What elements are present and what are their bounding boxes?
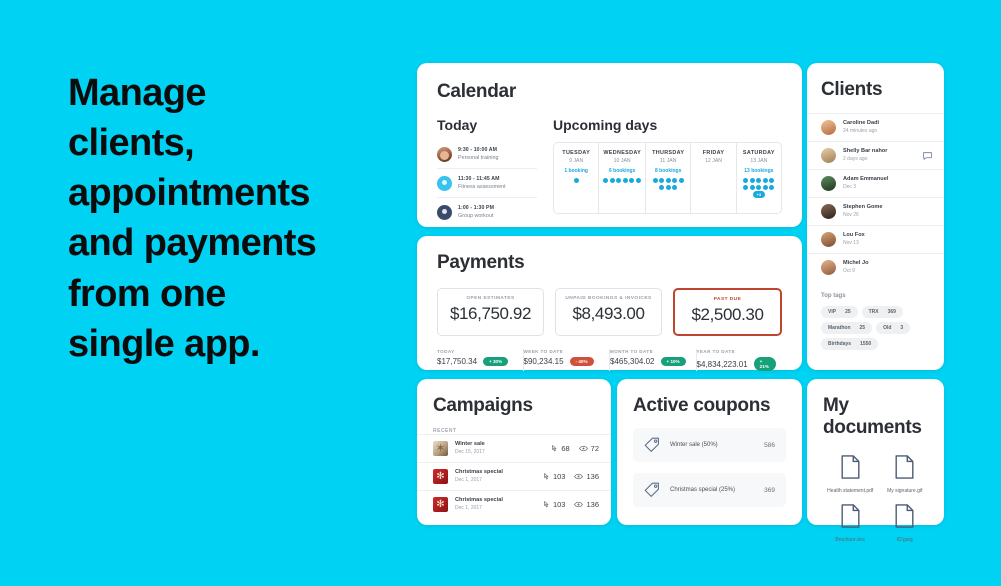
headline-line: and payments bbox=[68, 218, 408, 268]
booking-dot bbox=[743, 178, 748, 183]
campaign-views: 136 bbox=[586, 500, 599, 509]
upcoming-days-column: Upcoming days TUESDAY 9 JAN 1 booking WE… bbox=[553, 117, 782, 226]
stat-delta-badge: + 30% bbox=[483, 357, 508, 366]
calendar-title: Calendar bbox=[437, 81, 782, 103]
stat-value: $4,834,223.01 bbox=[697, 360, 748, 369]
stat-label: YEAR TO DATE bbox=[697, 349, 777, 354]
day-bookings-count: 1 booking bbox=[558, 168, 594, 174]
avatar bbox=[821, 204, 836, 219]
eye-icon bbox=[574, 501, 583, 508]
appointment-name: Personal training bbox=[458, 155, 498, 162]
booking-dots bbox=[650, 178, 686, 190]
tag-name: Birthdays bbox=[828, 341, 851, 347]
client-last-activity: Nov 13 bbox=[843, 240, 932, 246]
day-column[interactable]: TUESDAY 9 JAN 1 booking bbox=[554, 143, 599, 213]
appointment-name: Group workout bbox=[458, 213, 494, 220]
booking-dot bbox=[756, 178, 761, 183]
campaign-row[interactable]: Winter sale Dec 15, 2017 68 72 bbox=[417, 434, 611, 462]
campaigns-title: Campaigns bbox=[417, 395, 611, 417]
booking-dot bbox=[666, 185, 671, 190]
client-row[interactable]: Adam Emmanuel Dec 3 bbox=[807, 169, 944, 197]
document-icon bbox=[841, 455, 860, 479]
coupon-name: Winter sale (50%) bbox=[670, 442, 754, 448]
day-name: SATURDAY bbox=[741, 150, 777, 156]
tag-chip[interactable]: Birthdays 1550 bbox=[821, 338, 878, 350]
today-appointment[interactable]: 9:30 - 10:00 AM Personal training bbox=[437, 140, 537, 169]
day-column[interactable]: THURSDAY 11 JAN 8 bookings bbox=[646, 143, 691, 213]
day-name: THURSDAY bbox=[650, 150, 686, 156]
payment-card-past-due[interactable]: PAST DUE $2,500.30 bbox=[673, 288, 782, 336]
headline-line: Manage bbox=[68, 68, 408, 118]
stat-value: $465,304.02 bbox=[610, 357, 655, 366]
document-item[interactable]: Health statement.pdf bbox=[823, 455, 878, 495]
payments-title: Payments bbox=[437, 252, 782, 274]
coupon-row[interactable]: Winter sale (50%) 586 bbox=[633, 428, 786, 462]
tag-count: 3 bbox=[900, 325, 903, 331]
campaign-date: Dec 1, 2017 bbox=[455, 505, 536, 511]
booking-dots bbox=[558, 178, 594, 183]
payment-card-open-estimates[interactable]: OPEN ESTIMATES $16,750.92 bbox=[437, 288, 544, 336]
day-name: TUESDAY bbox=[558, 150, 594, 156]
client-name: Shelly Bar nahor bbox=[843, 148, 916, 155]
payment-stat-week: WEEK TO DATE $90,234.15 - 40% bbox=[524, 349, 611, 371]
document-name: Brochure.doc bbox=[823, 537, 878, 544]
booking-dot bbox=[653, 178, 658, 183]
client-row[interactable]: Caroline Dadi 24 minutes ago bbox=[807, 113, 944, 141]
client-name: Lou Fox bbox=[843, 232, 932, 239]
day-date: 12 JAN bbox=[695, 158, 731, 164]
calendar-card: Calendar Today 9:30 - 10:00 AM Personal … bbox=[417, 63, 802, 227]
documents-title: My documents bbox=[823, 395, 932, 439]
avatar bbox=[437, 176, 452, 191]
tag-icon bbox=[644, 482, 660, 498]
top-tags-label: Top tags bbox=[807, 281, 944, 299]
booking-dot bbox=[743, 185, 748, 190]
avatar bbox=[437, 147, 452, 162]
campaign-thumbnail bbox=[433, 497, 448, 512]
campaign-clicks: 68 bbox=[561, 444, 569, 453]
booking-dot bbox=[666, 178, 671, 183]
stat-label: WEEK TO DATE bbox=[524, 349, 604, 354]
booking-dot bbox=[672, 185, 677, 190]
tag-chip[interactable]: VIP 25 bbox=[821, 306, 858, 318]
campaign-date: Dec 1, 2017 bbox=[455, 477, 536, 483]
client-last-activity: 2 days ago bbox=[843, 156, 916, 162]
appointment-name: Fitness assessment bbox=[458, 184, 506, 191]
document-icon bbox=[895, 455, 914, 479]
day-date: 9 JAN bbox=[558, 158, 594, 164]
document-item[interactable]: My signature.gif bbox=[878, 455, 933, 495]
headline-line: from one bbox=[68, 269, 408, 319]
booking-dot bbox=[769, 185, 774, 190]
coupon-count: 586 bbox=[764, 442, 775, 449]
payment-card-value: $2,500.30 bbox=[679, 305, 776, 325]
day-date: 13 JAN bbox=[741, 158, 777, 164]
top-tags-list: VIP 25 TRX 369 Marathon 25 Old 3 Birthda… bbox=[807, 299, 944, 350]
eye-icon bbox=[579, 445, 588, 452]
tag-chip[interactable]: TRX 369 bbox=[862, 306, 903, 318]
client-name: Stephen Gome bbox=[843, 204, 932, 211]
day-bookings-count: 8 bookings bbox=[650, 168, 686, 174]
appointment-time: 9:30 - 10:00 AM bbox=[458, 147, 498, 154]
tag-icon bbox=[644, 437, 660, 453]
client-row[interactable]: Shelly Bar nahor 2 days ago bbox=[807, 141, 944, 169]
document-icon bbox=[895, 504, 914, 528]
appointment-time: 11:30 - 11:45 AM bbox=[458, 176, 506, 183]
payment-card-label: PAST DUE bbox=[679, 297, 776, 302]
tag-name: Old bbox=[883, 325, 891, 331]
campaign-date: Dec 15, 2017 bbox=[455, 449, 544, 455]
tag-name: VIP bbox=[828, 309, 836, 315]
campaign-row[interactable]: Christmas special Dec 1, 2017 103 136 bbox=[417, 490, 611, 518]
coupons-title: Active coupons bbox=[633, 395, 786, 417]
client-row[interactable]: Lou Fox Nov 13 bbox=[807, 225, 944, 253]
client-last-activity: 24 minutes ago bbox=[843, 128, 932, 134]
stat-label: TODAY bbox=[437, 349, 517, 354]
headline-line: single app. bbox=[68, 319, 408, 369]
booking-dot bbox=[574, 178, 579, 183]
campaign-clicks: 103 bbox=[553, 472, 566, 481]
today-list: 9:30 - 10:00 AM Personal training 11:30 … bbox=[437, 140, 537, 226]
clients-list: Caroline Dadi 24 minutes ago Shelly Bar … bbox=[807, 113, 944, 281]
payment-stat-month: MONTH TO DATE $465,304.02 + 10% bbox=[610, 349, 697, 371]
payments-card: Payments OPEN ESTIMATES $16,750.92 UNPAI… bbox=[417, 236, 802, 370]
client-name: Caroline Dadi bbox=[843, 120, 932, 127]
document-item[interactable]: ID.jpeg bbox=[878, 504, 933, 544]
coupon-name: Christmas special (25%) bbox=[670, 487, 754, 493]
stat-value: $17,750.34 bbox=[437, 357, 477, 366]
booking-dot bbox=[623, 178, 628, 183]
day-bookings-count: 13 bookings bbox=[741, 168, 777, 174]
day-column[interactable]: WEDNESDAY 10 JAN 6 bookings bbox=[599, 143, 646, 213]
day-name: WEDNESDAY bbox=[603, 150, 641, 156]
avatar bbox=[821, 148, 836, 163]
payment-stat-year: YEAR TO DATE $4,834,223.01 + 21% bbox=[697, 349, 783, 371]
booking-dot bbox=[659, 178, 664, 183]
booking-dot bbox=[610, 178, 615, 183]
document-name: ID.jpeg bbox=[878, 537, 933, 544]
payment-card-label: OPEN ESTIMATES bbox=[442, 296, 539, 301]
document-icon bbox=[841, 504, 860, 528]
campaign-views: 136 bbox=[586, 472, 599, 481]
today-column: Today 9:30 - 10:00 AM Personal training … bbox=[437, 117, 537, 226]
booking-dots: +3 bbox=[741, 178, 777, 198]
appointment-time: 1:00 - 1:30 PM bbox=[458, 205, 494, 212]
click-icon bbox=[543, 473, 550, 481]
today-appointment[interactable]: 11:30 - 11:45 AM Fitness assessment bbox=[437, 169, 537, 198]
booking-dot bbox=[603, 178, 608, 183]
campaign-thumbnail bbox=[433, 469, 448, 484]
booking-dot bbox=[763, 178, 768, 183]
tag-count: 369 bbox=[888, 309, 896, 315]
document-name: My signature.gif bbox=[878, 488, 933, 495]
campaign-name: Christmas special bbox=[455, 497, 536, 504]
payment-card-value: $16,750.92 bbox=[442, 304, 539, 324]
client-row[interactable]: Stephen Gome Nov 26 bbox=[807, 197, 944, 225]
booking-dot bbox=[769, 178, 774, 183]
campaign-thumbnail bbox=[433, 441, 448, 456]
upcoming-days-label: Upcoming days bbox=[553, 117, 782, 133]
client-row[interactable]: Michel Jo Oct 9 bbox=[807, 253, 944, 281]
tag-name: Marathon bbox=[828, 325, 851, 331]
stat-label: MONTH TO DATE bbox=[610, 349, 690, 354]
click-icon bbox=[543, 501, 550, 509]
day-column[interactable]: FRIDAY 12 JAN bbox=[691, 143, 736, 213]
active-coupons-card: Active coupons Winter sale (50%) 586 Chr… bbox=[617, 379, 802, 525]
avatar bbox=[821, 260, 836, 275]
clients-title: Clients bbox=[807, 79, 944, 101]
booking-dot bbox=[679, 178, 684, 183]
my-documents-card: My documents Health statement.pdf My sig… bbox=[807, 379, 944, 525]
tag-chip[interactable]: Marathon 25 bbox=[821, 322, 872, 334]
campaign-views: 72 bbox=[591, 444, 599, 453]
campaign-name: Christmas special bbox=[455, 469, 536, 476]
campaigns-card: Campaigns RECENT Winter sale Dec 15, 201… bbox=[417, 379, 611, 525]
payment-card-value: $8,493.00 bbox=[560, 304, 657, 324]
booking-dot bbox=[672, 178, 677, 183]
campaigns-section-label: RECENT bbox=[417, 417, 611, 434]
campaign-clicks: 103 bbox=[553, 500, 566, 509]
tag-count: 25 bbox=[845, 309, 851, 315]
stat-delta-badge: + 10% bbox=[661, 357, 686, 366]
client-last-activity: Dec 3 bbox=[843, 184, 932, 190]
today-label: Today bbox=[437, 117, 537, 133]
stat-value: $90,234.15 bbox=[524, 357, 564, 366]
booking-dots bbox=[603, 178, 641, 183]
headline-line: appointments bbox=[68, 168, 408, 218]
payment-stats-row: TODAY $17,750.34 + 30% WEEK TO DATE $90,… bbox=[437, 349, 782, 371]
client-name: Michel Jo bbox=[843, 260, 932, 267]
client-name: Adam Emmanuel bbox=[843, 176, 932, 183]
tag-chip[interactable]: Old 3 bbox=[876, 322, 910, 334]
today-appointment[interactable]: 1:00 - 1:30 PM Group workout bbox=[437, 198, 537, 226]
avatar bbox=[821, 176, 836, 191]
payment-card-unpaid[interactable]: UNPAID BOOKINGS & INVOICES $8,493.00 bbox=[555, 288, 662, 336]
avatar bbox=[821, 120, 836, 135]
upcoming-days-grid: TUESDAY 9 JAN 1 booking WEDNESDAY 10 JAN… bbox=[553, 142, 782, 214]
booking-dot bbox=[659, 185, 664, 190]
documents-grid: Health statement.pdf My signature.gif Br… bbox=[823, 455, 932, 552]
more-bookings-pill[interactable]: +3 bbox=[753, 191, 766, 198]
coupon-row[interactable]: Christmas special (25%) 369 bbox=[633, 473, 786, 507]
payment-stat-today: TODAY $17,750.34 + 30% bbox=[437, 349, 524, 371]
campaign-name: Winter sale bbox=[455, 441, 544, 448]
tag-count: 25 bbox=[860, 325, 866, 331]
campaign-row[interactable]: Christmas special Dec 1, 2017 103 136 bbox=[417, 462, 611, 490]
headline-line: clients, bbox=[68, 118, 408, 168]
click-icon bbox=[551, 445, 558, 453]
tag-name: TRX bbox=[869, 309, 879, 315]
avatar bbox=[821, 232, 836, 247]
coupon-count: 369 bbox=[764, 487, 775, 494]
payment-card-label: UNPAID BOOKINGS & INVOICES bbox=[560, 296, 657, 301]
avatar bbox=[437, 205, 452, 220]
client-last-activity: Nov 26 bbox=[843, 212, 932, 218]
booking-dot bbox=[629, 178, 634, 183]
booking-dot bbox=[750, 185, 755, 190]
document-item[interactable]: Brochure.doc bbox=[823, 504, 878, 544]
booking-dot bbox=[616, 178, 621, 183]
clients-card: Clients Caroline Dadi 24 minutes ago She… bbox=[807, 63, 944, 370]
stat-delta-badge: + 21% bbox=[754, 357, 776, 371]
stat-delta-badge: - 40% bbox=[570, 357, 594, 366]
day-name: FRIDAY bbox=[695, 150, 731, 156]
client-last-activity: Oct 9 bbox=[843, 268, 932, 274]
booking-dot bbox=[763, 185, 768, 190]
day-date: 10 JAN bbox=[603, 158, 641, 164]
day-bookings-count: 6 bookings bbox=[603, 168, 641, 174]
promo-stage: Manage clients, appointments and payment… bbox=[0, 0, 1001, 586]
booking-dot bbox=[636, 178, 641, 183]
payment-summary-cards: OPEN ESTIMATES $16,750.92 UNPAID BOOKING… bbox=[437, 288, 782, 336]
page-headline: Manage clients, appointments and payment… bbox=[68, 68, 408, 369]
booking-dot bbox=[750, 178, 755, 183]
eye-icon bbox=[574, 473, 583, 480]
document-name: Health statement.pdf bbox=[823, 488, 878, 495]
day-column[interactable]: SATURDAY 13 JAN 13 bookings +3 bbox=[737, 143, 781, 213]
booking-dot bbox=[756, 185, 761, 190]
chat-bubble-icon[interactable] bbox=[923, 152, 932, 160]
day-date: 11 JAN bbox=[650, 158, 686, 164]
tag-count: 1550 bbox=[860, 341, 871, 347]
